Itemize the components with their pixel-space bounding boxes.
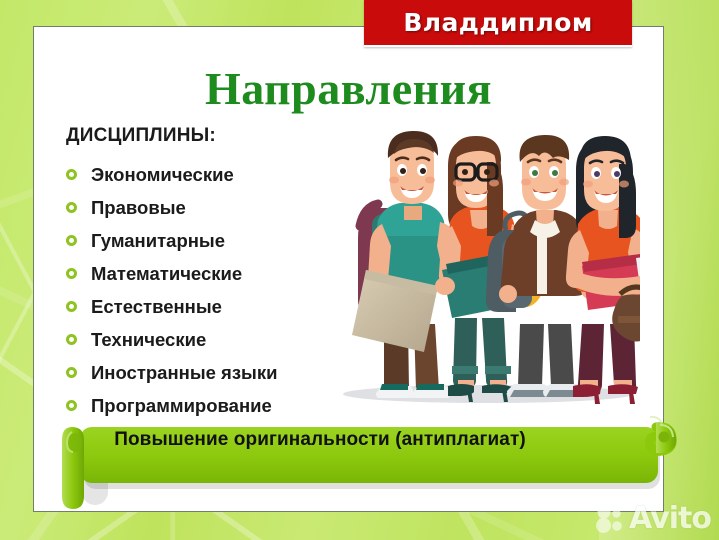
list-item: Математические	[66, 257, 366, 290]
list-item: Экономические	[66, 158, 366, 191]
list-item: Правовые	[66, 191, 366, 224]
ribbon-banner	[58, 415, 683, 510]
avito-wordmark: Avito	[629, 501, 711, 536]
list-item: Естественные	[66, 290, 366, 323]
list-item: Иностранные языки	[66, 356, 366, 389]
brand-banner: Владдиплом	[364, 0, 632, 47]
avito-logo-icon	[595, 504, 625, 534]
discipline-label: Естественные	[91, 296, 222, 318]
disciplines-heading: ДИСЦИПЛИНЫ:	[66, 125, 216, 147]
discipline-label: Правовые	[91, 197, 186, 219]
bullet-icon	[66, 301, 77, 312]
discipline-label: Математические	[91, 263, 242, 285]
bullet-icon	[66, 268, 77, 279]
bullet-icon	[66, 202, 77, 213]
brand-name: Владдиплом	[403, 8, 592, 37]
bullet-icon	[66, 334, 77, 345]
avito-watermark: Avito	[595, 501, 711, 536]
discipline-label: Экономические	[91, 164, 234, 186]
students-illustration	[330, 118, 640, 410]
discipline-label: Гуманитарные	[91, 230, 225, 252]
list-item: Технические	[66, 323, 366, 356]
disciplines-list: Экономические Правовые Гуманитарные Мате…	[66, 158, 366, 422]
bullet-icon	[66, 169, 77, 180]
bullet-icon	[66, 235, 77, 246]
discipline-label: Программирование	[91, 395, 272, 417]
slide-canvas: Владдиплом Направления ДИСЦИПЛИНЫ: Эконо…	[0, 0, 719, 540]
page-title: Направления	[33, 62, 664, 115]
bullet-icon	[66, 367, 77, 378]
discipline-label: Иностранные языки	[91, 362, 277, 384]
list-item: Гуманитарные	[66, 224, 366, 257]
discipline-label: Технические	[91, 329, 206, 351]
bullet-icon	[66, 400, 77, 411]
